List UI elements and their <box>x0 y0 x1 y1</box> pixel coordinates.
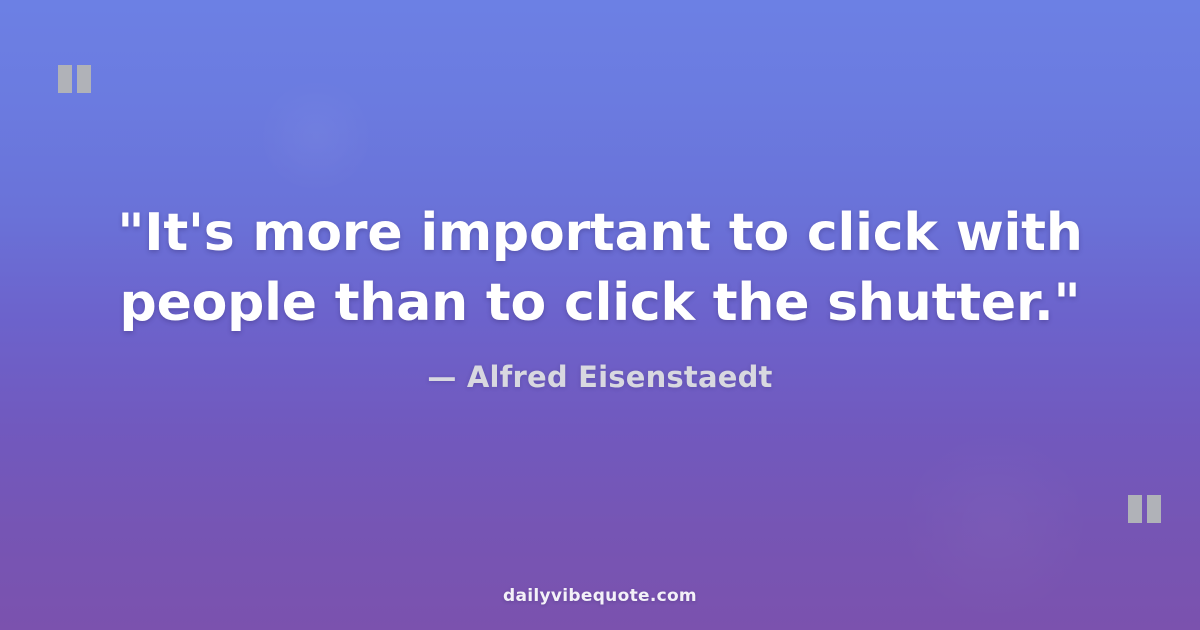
site-watermark: dailyvibequote.com <box>0 586 1200 606</box>
quote-content: "It's more important to click with peopl… <box>0 0 1200 630</box>
quote-card: "It's more important to click with peopl… <box>0 0 1200 630</box>
quote-text: "It's more important to click with peopl… <box>95 198 1105 338</box>
quote-author: — Alfred Eisenstaedt <box>427 358 772 396</box>
